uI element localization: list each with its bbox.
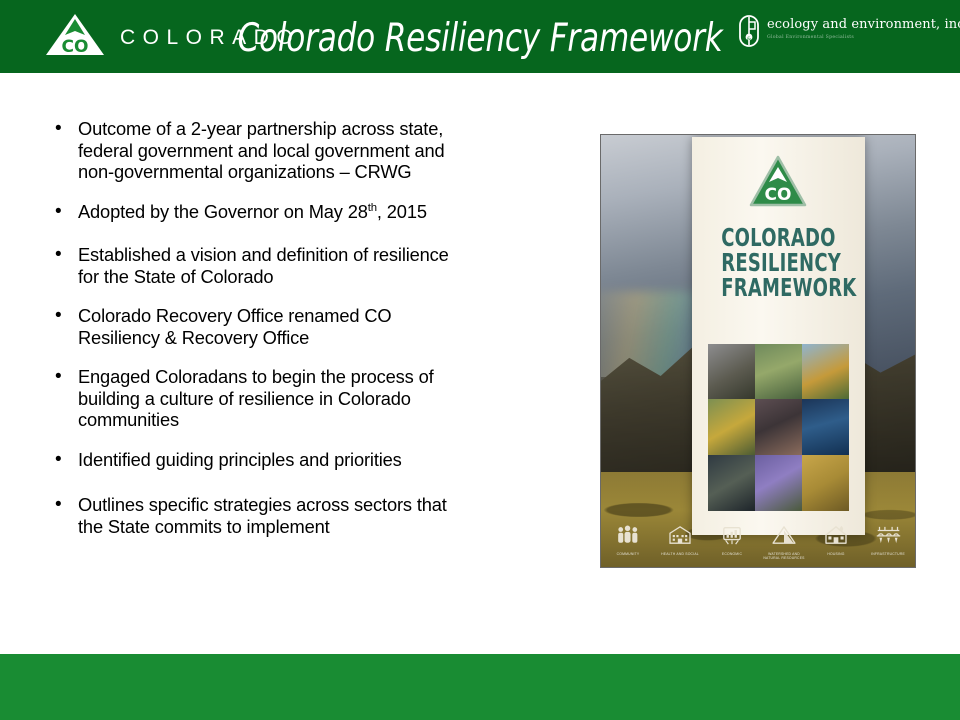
poster-photo-cell	[708, 344, 755, 400]
bullet-line: Engaged Coloradans to begin the process …	[78, 366, 573, 388]
bullet-line: Established a vision and definition of r…	[78, 244, 573, 266]
bullet-line: non-governmental organizations – CRWG	[78, 161, 573, 183]
poster-photo-cell	[708, 455, 755, 511]
bullet-line: Outcome of a 2-year partnership across s…	[78, 118, 573, 140]
bullet-line: communities	[78, 409, 573, 431]
list-item-text: Established a vision and definition of r…	[78, 244, 573, 287]
bullet-line: Colorado Recovery Office renamed CO	[78, 305, 573, 327]
bullet-text-superscript: th	[368, 201, 377, 213]
list-item: • Outcome of a 2-year partnership across…	[48, 118, 573, 183]
list-item-text: Outlines specific strategies across sect…	[78, 494, 573, 537]
sector-item-watershed-and-natural-resources: WATERSHED AND NATURAL RESOURCES	[762, 525, 806, 561]
sector-item-health-and-social: HEALTH AND SOCIAL	[658, 525, 702, 561]
colorado-wordmark: COLORADO	[120, 26, 300, 50]
bullet-line: Identified guiding principles and priori…	[78, 449, 573, 471]
list-item: • Established a vision and definition of…	[48, 244, 573, 287]
poster-photo-cell	[802, 455, 849, 511]
watershed-mountain-icon	[771, 525, 797, 545]
bullet-line: for the State of Colorado	[78, 266, 573, 288]
partner-tagline: Global Environmental Specialists	[767, 34, 960, 41]
sector-label: COMMUNITY	[606, 552, 650, 556]
poster-photo-cell	[755, 399, 802, 455]
sector-label: ECONOMIC	[710, 552, 754, 556]
sector-label: INFRASTRUCTURE	[866, 552, 910, 556]
bullet-marker-icon: •	[48, 494, 78, 516]
list-item-text: Engaged Coloradans to begin the process …	[78, 366, 573, 431]
footer-bar	[0, 654, 960, 720]
partner-text-block: ecology and environment, inc. Global Env…	[767, 14, 960, 41]
sector-item-housing: HOUSING	[814, 525, 858, 561]
list-item-text: Colorado Recovery Office renamed CO Resi…	[78, 305, 573, 348]
bullet-marker-icon: •	[48, 305, 78, 327]
svg-text:CO: CO	[765, 185, 792, 205]
poster-heading: COLORADO RESILIENCY FRAMEWORK	[721, 225, 835, 300]
ecology-environment-mark-icon: &	[738, 14, 760, 53]
footer-partner-logo: & ecology and environment, inc. Global E…	[738, 14, 960, 53]
bullet-marker-icon: •	[48, 244, 78, 266]
list-item: • Engaged Coloradans to begin the proces…	[48, 366, 573, 431]
poster-heading-line: RESILIENCY	[721, 250, 835, 275]
poster-photo-grid	[708, 344, 850, 511]
bullet-line: Outlines specific strategies across sect…	[78, 494, 573, 516]
bullet-line: the State commits to implement	[78, 516, 573, 538]
poster-heading-line: COLORADO	[721, 225, 835, 250]
list-item: • Identified guiding principles and prio…	[48, 449, 573, 471]
svg-text:&: &	[747, 36, 752, 42]
sector-label: WATERSHED AND NATURAL RESOURCES	[762, 552, 806, 561]
svg-text:CO: CO	[62, 37, 89, 57]
bullet-marker-icon: •	[48, 366, 78, 388]
footer-colorado-logo: CO COLORADO	[44, 13, 300, 62]
bullet-text-suffix: , 2015	[377, 201, 427, 222]
sector-item-infrastructure: INFRASTRUCTURE	[866, 525, 910, 561]
list-item: • Colorado Recovery Office renamed CO Re…	[48, 305, 573, 348]
poster-heading-line: FRAMEWORK	[721, 275, 835, 300]
poster-photo-cell	[708, 399, 755, 455]
community-people-icon	[615, 525, 641, 545]
resiliency-framework-poster-image: CO COLORADO RESILIENCY FRAMEWORK	[600, 134, 916, 568]
poster-photo-cell	[755, 455, 802, 511]
list-item-text: Adopted by the Governor on May 28th, 201…	[78, 201, 573, 223]
bullet-line: federal government and local government …	[78, 140, 573, 162]
infrastructure-bridge-icon	[875, 525, 902, 545]
bullet-line: Resiliency & Recovery Office	[78, 327, 573, 349]
housing-house-icon	[823, 525, 849, 545]
health-social-building-icon	[667, 525, 693, 545]
list-item-text: Identified guiding principles and priori…	[78, 449, 573, 471]
sector-label: HOUSING	[814, 552, 858, 556]
partner-name: ecology and environment, inc.	[767, 18, 960, 31]
poster-photo-cell	[755, 344, 802, 400]
poster-photo-cell	[802, 399, 849, 455]
colorado-co-triangle-icon: CO	[749, 155, 807, 207]
sector-label: HEALTH AND SOCIAL	[658, 552, 702, 556]
list-item-text: Outcome of a 2-year partnership across s…	[78, 118, 573, 183]
bullet-list: • Outcome of a 2-year partnership across…	[48, 118, 573, 555]
bullet-text-prefix: Adopted by the Governor on May 28	[78, 201, 368, 222]
poster-photo-cell	[802, 344, 849, 400]
bullet-line: building a culture of resilience in Colo…	[78, 388, 573, 410]
poster-sector-icon-strip: COMMUNITY HEALTH AND SOCIAL	[601, 525, 915, 561]
bullet-marker-icon: •	[48, 449, 78, 471]
economic-chart-icon	[719, 525, 745, 545]
poster-banner-panel: CO COLORADO RESILIENCY FRAMEWORK	[692, 137, 865, 534]
bullet-marker-icon: •	[48, 118, 78, 140]
sector-item-economic: ECONOMIC	[710, 525, 754, 561]
colorado-co-triangle-icon: CO	[44, 13, 106, 62]
list-item: • Outlines specific strategies across se…	[48, 494, 573, 537]
sector-item-community: COMMUNITY	[606, 525, 650, 561]
bullet-marker-icon: •	[48, 201, 78, 223]
list-item: • Adopted by the Governor on May 28th, 2…	[48, 201, 573, 223]
